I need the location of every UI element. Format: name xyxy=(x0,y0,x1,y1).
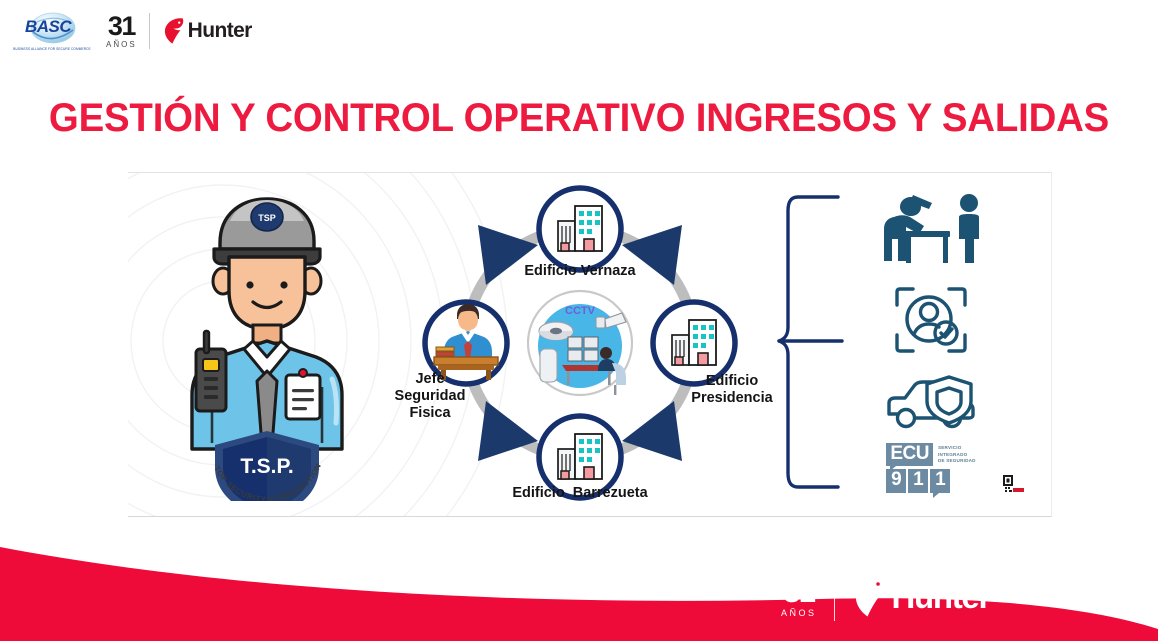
header-anniversary: 31 AÑOS xyxy=(106,13,137,49)
page-header: BASC BUSINESS ALLIANCE FOR SECURE COMMER… xyxy=(0,0,1158,62)
basc-tagline: BUSINESS ALLIANCE FOR SECURE COMMERCE xyxy=(13,46,91,50)
qr-watermark-icon xyxy=(996,473,1030,499)
hunter-logo-footer: Hunter xyxy=(853,575,990,619)
ecu-tagline: SERVICIO INTEGRADO DE SEGURIDAD xyxy=(938,445,976,465)
hunter-wordmark-header: Hunter xyxy=(188,19,252,43)
cctv-center-icon: CCTV xyxy=(528,291,632,395)
hunter-bird-icon xyxy=(163,17,185,45)
security-guard-illustration: TSP xyxy=(140,181,410,501)
node-label-presidencia: Edificio Presidencia xyxy=(672,373,792,407)
hunter-logo-header: Hunter xyxy=(163,17,252,45)
node-label-barrezueta: Edificio Barrezueta xyxy=(440,485,720,502)
ecu-wordmark: ECU xyxy=(886,443,933,466)
ecu-tagline-line-2: INTEGRADO xyxy=(938,452,976,459)
node-vernaza xyxy=(539,188,621,270)
face-recognition-icon xyxy=(866,283,996,357)
right-icon-stack: ECU SERVICIO INTEGRADO DE SEGURIDAD 9 1 … xyxy=(866,191,1026,511)
footer-anniversary: 31 AÑOS xyxy=(781,576,817,618)
node-label-vernaza: Edificio Vernaza xyxy=(450,263,710,280)
svg-text:CCTV: CCTV xyxy=(565,305,596,317)
footer-brand: 31 AÑOS Hunter xyxy=(781,571,990,623)
footer-divider xyxy=(834,573,835,621)
anniversary-number: 31 xyxy=(108,13,135,40)
node-presidencia xyxy=(653,302,735,384)
vehicle-security-icon xyxy=(866,373,996,431)
baggage-inspection-icon xyxy=(866,191,996,269)
footer-anniversary-number: 31 xyxy=(783,576,814,607)
hunter-bird-icon-footer xyxy=(853,575,887,619)
svg-text:TSP: TSP xyxy=(258,213,276,223)
basc-logo: BASC BUSINESS ALLIANCE FOR SECURE COMMER… xyxy=(14,8,90,54)
ecu-digit-1a: 1 xyxy=(908,469,928,493)
ecu-digit-9: 9 xyxy=(886,469,906,493)
ecu-tagline-line-1: SERVICIO xyxy=(938,445,976,452)
slide-title: GESTIÓN Y CONTROL OPERATIVO INGRESOS Y S… xyxy=(23,96,1135,141)
footer-anniversary-label: AÑOS xyxy=(781,609,817,618)
process-circle-diagram: CCTV xyxy=(400,173,760,517)
basc-globe-icon: BASC xyxy=(21,12,83,46)
hunter-wordmark-footer: Hunter xyxy=(891,578,990,616)
ecu-911-logo: ECU SERVICIO INTEGRADO DE SEGURIDAD 9 1 … xyxy=(866,443,996,493)
tsp-initials: T.S.P. xyxy=(240,455,293,478)
ecu-digit-1b: 1 xyxy=(930,469,950,493)
content-panel: TSP xyxy=(128,172,1052,517)
header-divider xyxy=(149,13,150,49)
anniversary-label: AÑOS xyxy=(106,41,137,49)
node-label-jefe: Jefe Seguridad Fisica xyxy=(375,371,485,422)
grouping-brace xyxy=(776,193,846,493)
ecu-tagline-line-3: DE SEGURIDAD xyxy=(938,458,976,465)
basc-wordmark: BASC xyxy=(25,17,71,37)
